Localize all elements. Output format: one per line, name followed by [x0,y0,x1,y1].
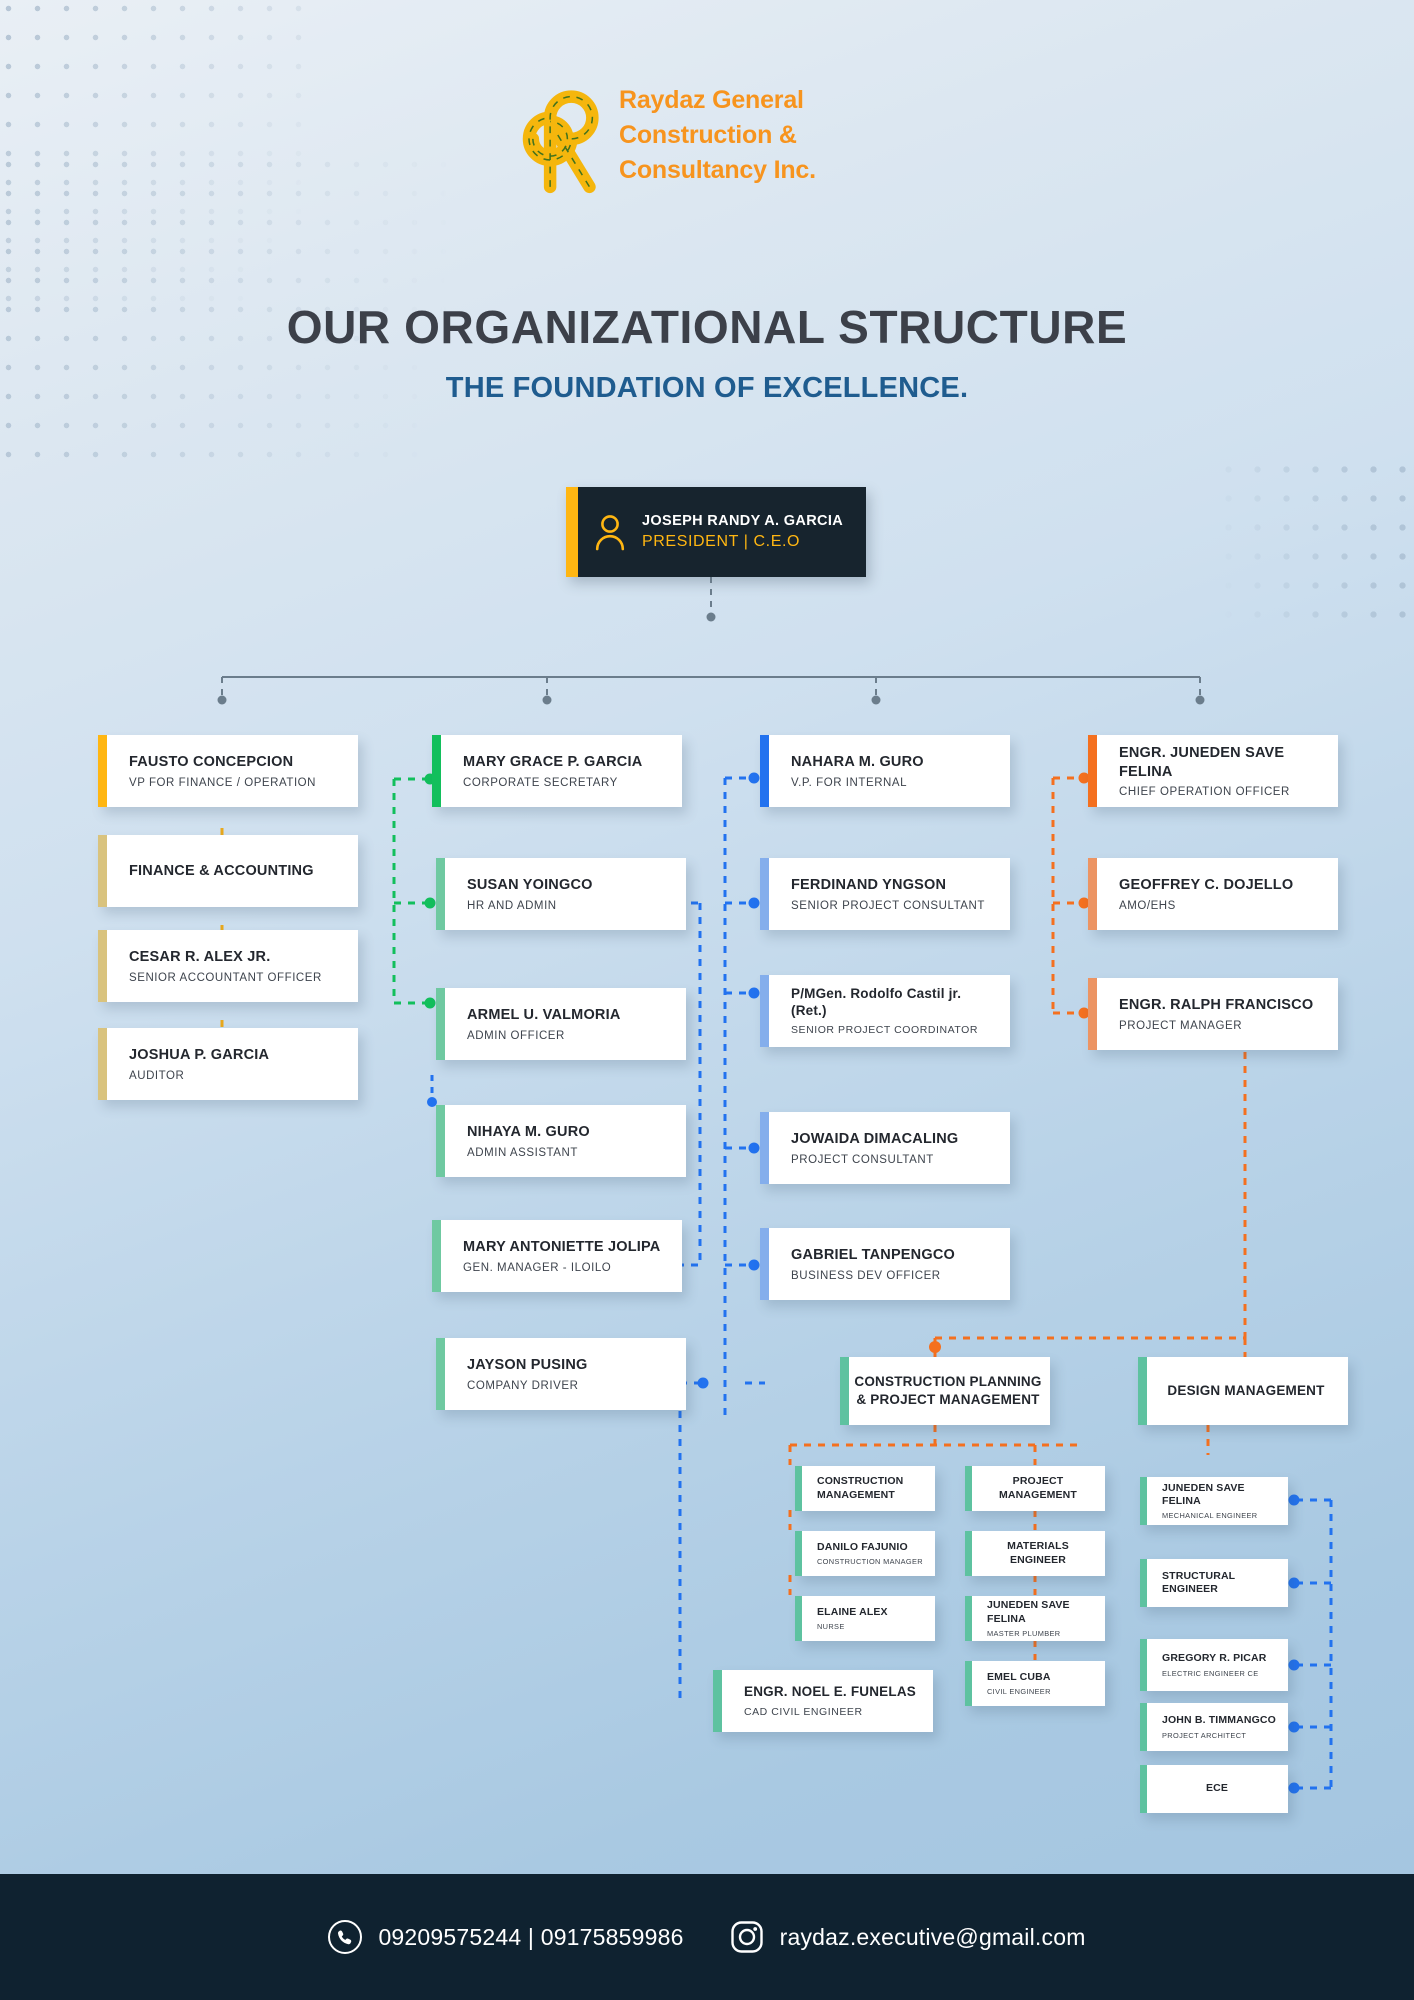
person-name: GEOFFREY C. DOJELLO [1119,876,1328,894]
accent-bar [1140,1559,1147,1607]
org-card-gabriel-tanpengco[interactable]: GABRIEL TANPENGCO BUSINESS DEV OFFICER [760,1228,1010,1300]
person-name: ENGR. NOEL E. FUNELAS [744,1684,923,1701]
accent-bar [436,858,445,930]
org-card-ece[interactable]: ECE [1140,1765,1288,1813]
org-card-juneden-save-felina-coo[interactable]: ENGR. JUNEDEN SAVE FELINA CHIEF OPERATIO… [1088,735,1338,807]
org-card-mary-antoniette-jolipa[interactable]: MARY ANTONIETTE JOLIPA GEN. MANAGER - IL… [432,1220,682,1292]
ceo-accent-bar [566,487,578,577]
person-role: AUDITOR [129,1070,348,1082]
accent-bar [965,1466,972,1511]
person-role: CAD CIVIL ENGINEER [744,1706,923,1718]
person-name: SUSAN YOINGCO [467,876,676,894]
accent-bar [713,1670,722,1732]
org-card-john-timmangco[interactable]: JOHN B. TIMMANGCO PROJECT ARCHITECT [1140,1703,1288,1751]
phone-icon [328,1920,362,1954]
person-name: MARY GRACE P. GARCIA [463,753,672,771]
brand-header: Raydaz General Construction & Consultanc… [505,75,925,195]
raydaz-monogram-icon [505,75,601,195]
person-role: NURSE [817,1622,925,1631]
accent-bar [432,735,441,807]
org-card-construction-management[interactable]: CONSTRUCTION MANAGEMENT [795,1466,935,1511]
brand-name: Raydaz General Construction & Consultanc… [619,83,816,188]
person-role: ELECTRIC ENGINEER CE [1162,1669,1278,1678]
org-card-susan-yoingco[interactable]: SUSAN YOINGCO HR AND ADMIN [436,858,686,930]
unit-name: PROJECT MANAGEMENT [979,1475,1097,1501]
person-name: JAYSON PUSING [467,1356,676,1374]
brand-line-3: Consultancy Inc. [619,153,816,188]
accent-bar [1140,1639,1147,1691]
accent-bar [760,1228,769,1300]
accent-bar [436,1105,445,1177]
org-card-armel-valmoria[interactable]: ARMEL U. VALMORIA ADMIN OFFICER [436,988,686,1060]
person-role: GEN. MANAGER - ILOILO [463,1262,672,1274]
person-name: DANILO FAJUNIO [817,1541,925,1554]
instagram-icon [730,1920,764,1954]
accent-bar [98,835,107,907]
footer-phone[interactable]: 09209575244 | 09175859986 [328,1920,683,1954]
accent-bar [1140,1477,1147,1525]
person-name: JUNEDEN SAVE FELINA [987,1599,1095,1625]
org-card-mary-grace-garcia[interactable]: MARY GRACE P. GARCIA CORPORATE SECRETARY [432,735,682,807]
person-role: SENIOR PROJECT CONSULTANT [791,900,1000,912]
person-role: ADMIN ASSISTANT [467,1147,676,1159]
person-name: ELAINE ALEX [817,1606,925,1619]
unit-name: FINANCE & ACCOUNTING [129,862,348,880]
accent-bar [436,1338,445,1410]
org-card-construction-planning-hub[interactable]: CONSTRUCTION PLANNING & PROJECT MANAGEME… [840,1357,1050,1425]
accent-bar [965,1596,972,1641]
accent-bar [98,1028,107,1100]
org-card-elaine-alex[interactable]: ELAINE ALEX NURSE [795,1596,935,1641]
org-card-design-management-hub[interactable]: DESIGN MANAGEMENT [1138,1357,1348,1425]
person-name: NAHARA M. GURO [791,753,1000,771]
page-subtitle: THE FOUNDATION OF EXCELLENCE. [0,372,1414,405]
accent-bar [1088,735,1097,807]
org-card-nahara-guro[interactable]: NAHARA M. GURO V.P. FOR INTERNAL [760,735,1010,807]
footer-bar: 09209575244 | 09175859986 raydaz.executi… [0,1874,1414,2000]
accent-bar [965,1531,972,1576]
accent-bar [1088,978,1097,1050]
accent-bar [98,735,107,807]
accent-bar [1138,1357,1147,1425]
person-name: JOHN B. TIMMANGCO [1162,1714,1278,1727]
ceo-role: PRESIDENT | C.E.O [642,533,843,551]
accent-bar [795,1596,802,1641]
org-card-geoffrey-dojello[interactable]: GEOFFREY C. DOJELLO AMO/EHS [1088,858,1338,930]
unit-name: STRUCTURAL ENGINEER [1162,1570,1278,1596]
person-role: PROJECT ARCHITECT [1162,1731,1278,1740]
ceo-card[interactable]: JOSEPH RANDY A. GARCIA PRESIDENT | C.E.O [566,487,866,577]
person-role: PROJECT MANAGER [1119,1020,1328,1032]
accent-bar [1140,1765,1147,1813]
org-card-emel-cuba[interactable]: EMEL CUBA CIVIL ENGINEER [965,1661,1105,1706]
footer-email[interactable]: raydaz.executive@gmail.com [730,1920,1086,1954]
footer-phone-text: 09209575244 | 09175859986 [378,1924,683,1951]
org-card-materials-engineer[interactable]: MATERIALS ENGINEER [965,1531,1105,1576]
person-role: MECHANICAL ENGINEER [1162,1511,1278,1520]
accent-bar [760,1112,769,1184]
person-name: FAUSTO CONCEPCION [129,753,348,771]
org-card-project-management[interactable]: PROJECT MANAGEMENT [965,1466,1105,1511]
ceo-name: JOSEPH RANDY A. GARCIA [642,513,843,529]
unit-name: MATERIALS ENGINEER [979,1540,1097,1566]
accent-bar [760,735,769,807]
accent-bar [795,1531,802,1576]
person-icon [588,513,632,551]
person-role: HR AND ADMIN [467,900,676,912]
person-role: CHIEF OPERATION OFFICER [1119,786,1328,798]
accent-bar [840,1357,849,1425]
accent-bar [432,1220,441,1292]
person-name: EMEL CUBA [987,1671,1095,1684]
person-role: V.P. FOR INTERNAL [791,777,1000,789]
accent-bar [760,975,769,1047]
accent-bar [1140,1703,1147,1751]
org-card-jowaida-dimacaling[interactable]: JOWAIDA DIMACALING PROJECT CONSULTANT [760,1112,1010,1184]
dot-pattern-right [1214,455,1414,635]
accent-bar [965,1661,972,1706]
org-card-danilo-fajunio[interactable]: DANILO FAJUNIO CONSTRUCTION MANAGER [795,1531,935,1576]
person-name: GREGORY R. PICAR [1162,1652,1278,1665]
person-role: SENIOR ACCOUNTANT OFFICER [129,972,348,984]
org-card-rodolfo-castil[interactable]: P/MGen. Rodolfo Castil jr. (Ret.) SENIOR… [760,975,1010,1047]
person-name: ENGR. RALPH FRANCISCO [1119,996,1328,1014]
org-card-jayson-pusing[interactable]: JAYSON PUSING COMPANY DRIVER [436,1338,686,1410]
person-role: AMO/EHS [1119,900,1328,912]
org-card-juneden-mechanical-engineer[interactable]: JUNEDEN SAVE FELINA MECHANICAL ENGINEER [1140,1477,1288,1525]
person-role: BUSINESS DEV OFFICER [791,1270,1000,1282]
person-role: CONSTRUCTION MANAGER [817,1557,925,1566]
page-title: OUR ORGANIZATIONAL STRUCTURE [0,300,1414,354]
person-name: CESAR R. ALEX JR. [129,948,348,966]
person-name: MARY ANTONIETTE JOLIPA [463,1238,672,1256]
person-role: CIVIL ENGINEER [987,1687,1095,1696]
person-name: NIHAYA M. GURO [467,1123,676,1141]
person-name: JOSHUA P. GARCIA [129,1046,348,1064]
unit-name: CONSTRUCTION MANAGEMENT [817,1475,925,1501]
person-name: JUNEDEN SAVE FELINA [1162,1482,1278,1508]
accent-bar [98,930,107,1002]
dot-pattern-top-left [0,0,324,324]
org-card-ralph-francisco[interactable]: ENGR. RALPH FRANCISCO PROJECT MANAGER [1088,978,1338,1050]
footer-email-text: raydaz.executive@gmail.com [780,1924,1086,1951]
org-card-structural-engineer[interactable]: STRUCTURAL ENGINEER [1140,1559,1288,1607]
person-name: JOWAIDA DIMACALING [791,1130,1000,1148]
org-card-joshua-garcia[interactable]: JOSHUA P. GARCIA AUDITOR [98,1028,358,1100]
unit-name: DESIGN MANAGEMENT [1152,1382,1340,1400]
accent-bar [795,1466,802,1511]
person-role: SENIOR PROJECT COORDINATOR [791,1024,1000,1036]
accent-bar [436,988,445,1060]
accent-bar [760,858,769,930]
person-role: PROJECT CONSULTANT [791,1154,1000,1166]
person-name: ENGR. JUNEDEN SAVE FELINA [1119,744,1328,780]
org-card-finance-accounting[interactable]: FINANCE & ACCOUNTING [98,835,358,907]
org-card-gregory-picar[interactable]: GREGORY R. PICAR ELECTRIC ENGINEER CE [1140,1639,1288,1691]
brand-line-2: Construction & [619,118,816,153]
unit-name: CONSTRUCTION PLANNING & PROJECT MANAGEME… [854,1373,1042,1409]
person-name: P/MGen. Rodolfo Castil jr. (Ret.) [791,986,1000,1020]
org-card-cesar-alex[interactable]: CESAR R. ALEX JR. SENIOR ACCOUNTANT OFFI… [98,930,358,1002]
brand-line-1: Raydaz General [619,83,816,118]
org-card-nihaya-guro[interactable]: NIHAYA M. GURO ADMIN ASSISTANT [436,1105,686,1177]
unit-name: ECE [1154,1782,1280,1795]
org-card-juneden-master-plumber[interactable]: JUNEDEN SAVE FELINA MASTER PLUMBER [965,1596,1105,1641]
person-role: VP FOR FINANCE / OPERATION [129,777,348,789]
person-name: FERDINAND YNGSON [791,876,1000,894]
person-name: ARMEL U. VALMORIA [467,1006,676,1024]
person-role: MASTER PLUMBER [987,1629,1095,1638]
person-name: GABRIEL TANPENGCO [791,1246,1000,1264]
org-card-fausto-concepcion[interactable]: FAUSTO CONCEPCION VP FOR FINANCE / OPERA… [98,735,358,807]
person-role: CORPORATE SECRETARY [463,777,672,789]
person-role: COMPANY DRIVER [467,1380,676,1392]
org-card-noel-funelas[interactable]: ENGR. NOEL E. FUNELAS CAD CIVIL ENGINEER [713,1670,933,1732]
org-card-ferdinand-yngson[interactable]: FERDINAND YNGSON SENIOR PROJECT CONSULTA… [760,858,1010,930]
accent-bar [1088,858,1097,930]
person-role: ADMIN OFFICER [467,1030,676,1042]
